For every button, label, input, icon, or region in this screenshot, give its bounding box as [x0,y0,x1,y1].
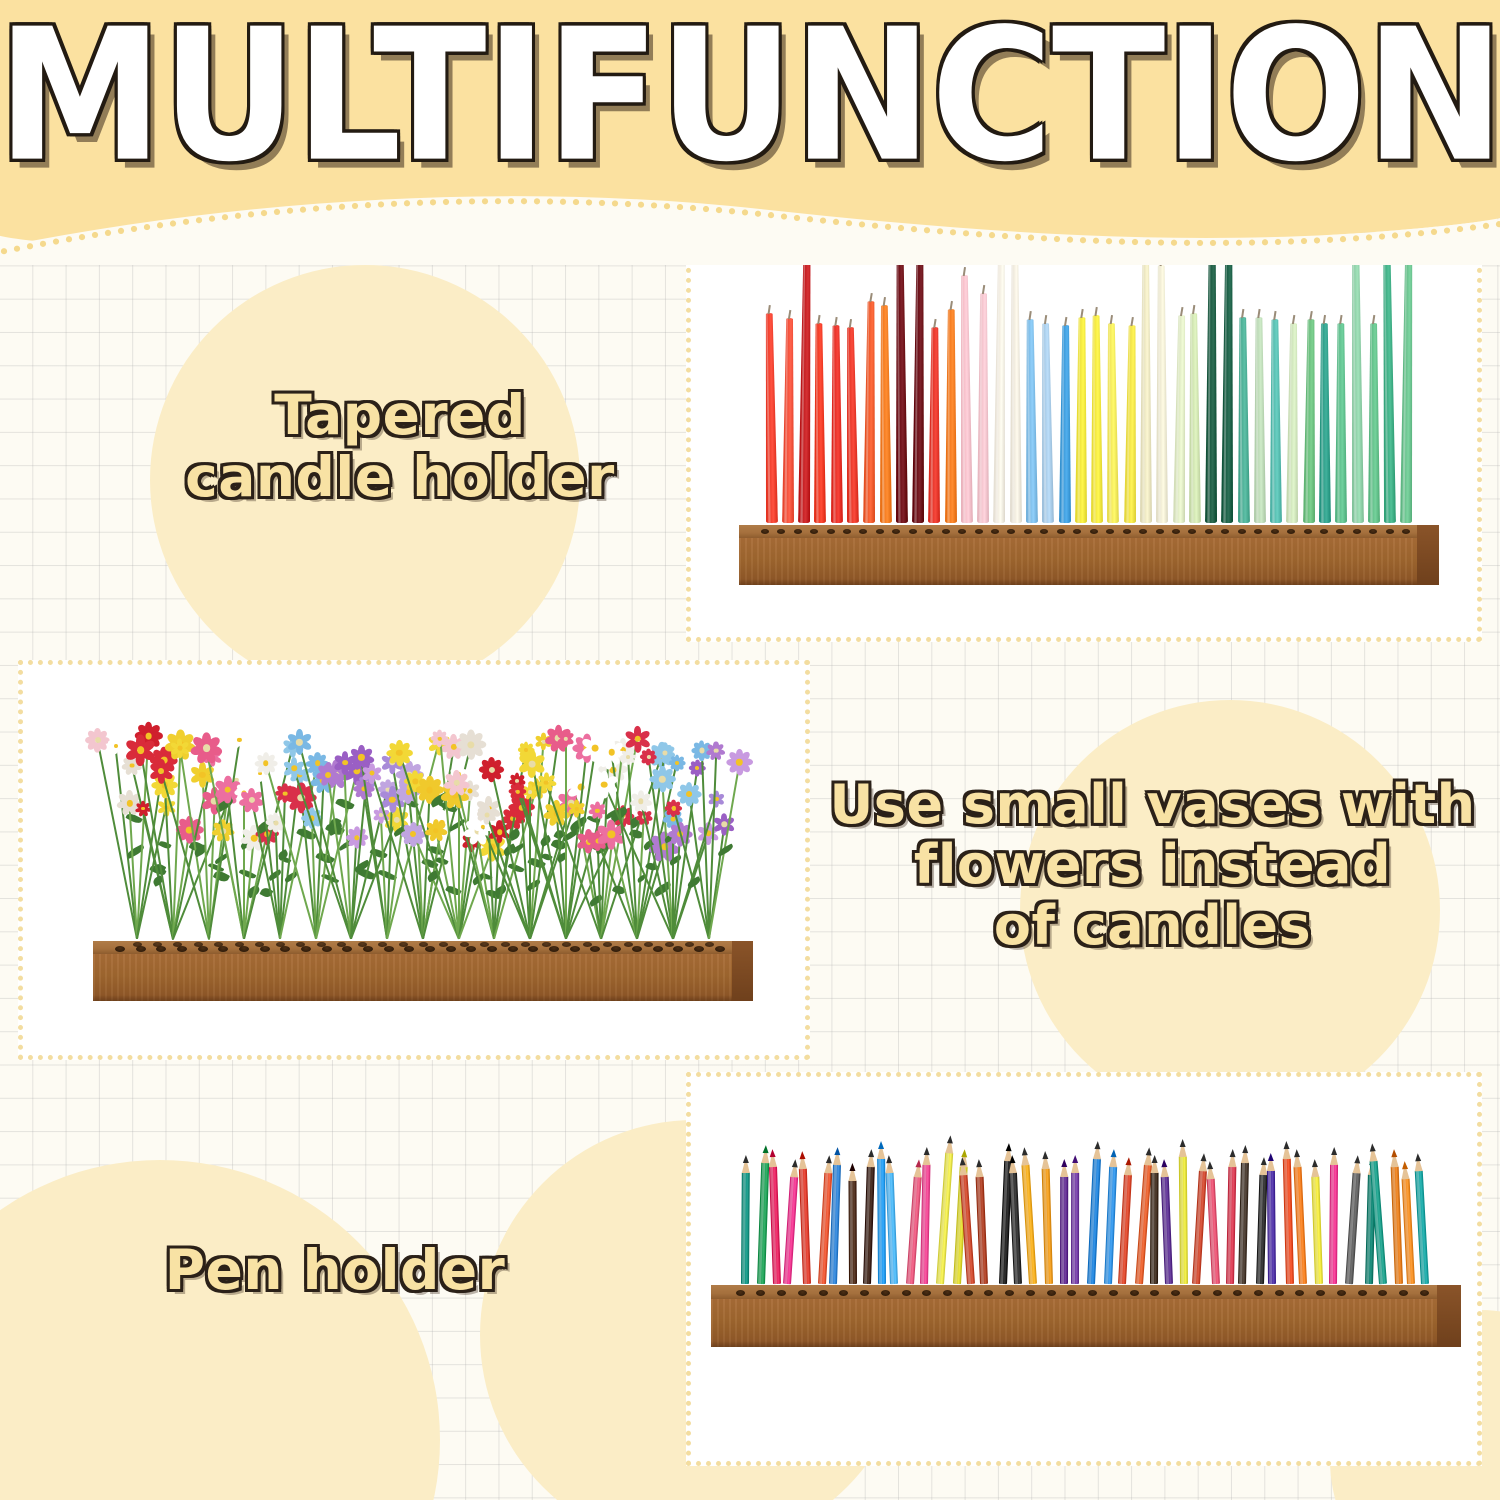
candle-body [1106,323,1120,523]
colored-pencil [1104,1166,1117,1284]
base-hole [798,1290,807,1296]
pencil-lead-tip [792,1159,799,1167]
candle-body [1286,323,1300,523]
pencil-lead-tip [1022,1147,1028,1155]
colored-pencil [757,1162,769,1284]
colored-pencil [848,1180,857,1284]
pencil-barrel [1206,1178,1219,1284]
pencil-barrel [976,1176,988,1284]
base-hole [1171,1290,1180,1296]
candle-body [1221,253,1235,523]
base-hole [843,529,851,534]
pencil-barrel [1118,1174,1132,1284]
candle-body [1253,317,1266,523]
pencil-barrel [1022,1164,1038,1284]
base-hole [425,946,435,952]
candle-wick [1095,307,1098,316]
candle-wick [1130,317,1133,326]
pencil-lead-tip [1061,1159,1067,1167]
base-hole [881,1290,890,1296]
tapered-candle [1155,265,1168,523]
candle-body [993,255,1007,523]
colored-pencil [1009,1172,1022,1284]
wood-end-cap [1437,1285,1461,1347]
pencil-barrel [1238,1162,1249,1284]
base-hole [909,529,917,534]
base-hole [624,942,633,947]
pencil-lead-tip [1415,1153,1421,1161]
base-hole [115,946,125,952]
colored-pencil [1226,1166,1236,1284]
wood-end-cap [1417,525,1439,585]
candle-wick [1274,311,1277,320]
caption-line: Tapered [130,385,670,447]
tapered-candle [1335,323,1347,523]
tapered-candle [1367,323,1379,523]
base-hole [1238,529,1246,534]
flower-bloom [679,784,699,804]
base-hole [1420,1290,1429,1296]
base-hole [1320,529,1328,534]
flower-holder-photo [23,665,805,1055]
candle-wick [1110,315,1113,324]
base-hole [1057,529,1065,534]
candle-body [1009,261,1022,523]
base-hole [1254,1290,1263,1296]
tapered-candle [1381,253,1396,523]
colored-pencil [936,1152,953,1284]
tapered-candle [844,327,859,523]
caption-line: Pen holder [100,1240,570,1302]
flower-photo-panel [18,660,810,1060]
base-hole [1304,529,1312,534]
candle-wick [1192,305,1195,314]
candle-holder-photo [691,253,1477,637]
colored-pencil [1402,1178,1415,1284]
pencil-lead-tip [1294,1149,1300,1157]
base-hole [685,942,694,947]
base-hole [1386,529,1394,534]
tapered-candle [830,325,843,523]
candle-wick [934,319,937,328]
colored-pencil [1329,1164,1338,1284]
pencil-lead-tip [1260,1157,1266,1165]
colored-pencil [1345,1172,1361,1284]
pencil-lead-tip [886,1155,892,1163]
tapered-candle [1187,313,1200,523]
base-hole [194,942,203,947]
candle-photo-panel [686,248,1482,642]
base-hole [1090,529,1098,534]
pencil-barrel [1178,1156,1187,1284]
colored-pencil [1071,1172,1079,1284]
base-hole [943,1290,952,1296]
base-hole [942,529,950,534]
pencil-lead-tip [1230,1149,1236,1157]
base-hole [1337,1290,1346,1296]
candle-body [1140,261,1152,523]
base-hole [419,942,428,947]
base-hole [1213,1290,1222,1296]
caption-line: Use small vases with [805,775,1500,835]
colored-pencil [1294,1166,1308,1284]
pencil-lead-tip [1126,1157,1132,1165]
base-hole [317,942,326,947]
tapered-candle [782,318,796,523]
base-hole [819,1290,828,1296]
colored-pencil [1238,1162,1249,1284]
base-hole [1192,1290,1201,1296]
base-hole [501,942,510,947]
base-hole [1156,529,1164,534]
pencil-barrel [920,1164,930,1284]
base-hole [399,942,408,947]
base-hole [1024,529,1032,534]
colored-pencil [1160,1176,1172,1284]
pencil-barrel [1071,1172,1079,1284]
base-hole [860,1290,869,1296]
pencil-lead-tip [1094,1141,1100,1149]
tapered-candle [1286,323,1300,523]
candle-wick [1180,307,1183,316]
candle-body [1367,323,1379,523]
wood-front-face [93,954,753,1001]
colored-pencil [1178,1156,1187,1284]
pencil-barrel [1415,1170,1429,1284]
colored-pencil [1150,1172,1159,1284]
tapered-candle [763,313,778,523]
base-hole [570,946,580,952]
pencil-barrel [1267,1170,1276,1284]
colored-pencil [1042,1168,1053,1284]
candle-body [1024,319,1038,523]
base-hole [358,942,367,947]
candle-wick [1340,315,1343,324]
pencil-barrel [757,1162,769,1284]
base-hole [1353,529,1361,534]
pencil-lead-tip [1152,1155,1158,1163]
pencil-barrel [1311,1176,1323,1284]
caption-line: of candles [805,896,1500,956]
pencil-lead-tip [1201,1153,1207,1161]
candle-body [1059,325,1072,523]
tapered-candle [1253,317,1266,523]
pencil-lead-tip [1009,1155,1015,1163]
pencil-barrel [1042,1168,1053,1284]
base-hole [632,946,642,952]
base-hole [715,946,725,952]
pencil-lead-tip [1005,1143,1011,1151]
pencil-barrel [885,1172,897,1284]
colored-pencil [885,1172,897,1284]
candle-body [1173,315,1188,523]
base-hole [446,946,456,952]
candle-wick [963,267,966,276]
candle-wick [949,301,952,310]
tapered-candle [958,275,973,523]
base-hole [644,942,653,947]
colored-pencil [1206,1178,1219,1284]
candle-body [1075,317,1088,523]
base-hole [1026,1290,1035,1296]
base-hole [975,529,983,534]
colored-pencil [1311,1176,1323,1284]
candle-wick [834,317,837,326]
pencil-lead-tip [1179,1139,1185,1147]
page-title: MULTIFUNCTION [0,6,1500,186]
base-hole [827,529,835,534]
candle-body [1040,323,1054,523]
pencil-lead-tip [742,1155,748,1163]
pencil-lead-tip [868,1149,874,1157]
candle-wick [882,297,885,306]
pencil-barrel [1150,1172,1159,1284]
tapered-candle [1024,319,1038,523]
tapered-candle [1318,323,1331,523]
tapered-candle [1075,317,1088,523]
base-hole [1047,1290,1056,1296]
wood-front-face [711,1299,1461,1347]
pencil-lead-tip [799,1151,805,1159]
candle-wick [1323,315,1326,324]
colored-pencil [1267,1170,1276,1284]
tapered-candle [1173,315,1188,523]
pencil-barrel [1329,1164,1338,1284]
candle-wick [1257,309,1260,318]
tapered-candle [1040,323,1054,523]
candle-wick [849,319,852,328]
pencil-barrel [1060,1176,1068,1284]
flower-center [686,791,692,797]
candle-body [830,325,843,523]
tapered-candle [1106,323,1120,523]
pencil-lead-tip [916,1159,923,1167]
pencil-barrel [1283,1158,1294,1284]
pencil-barrel [1226,1166,1236,1284]
candle-body [1155,265,1168,523]
pencil-lead-tip [976,1159,982,1167]
colored-pencil [1192,1170,1207,1284]
tapered-candle [1349,253,1363,523]
pencil-barrel [1104,1166,1117,1284]
pencil-lead-tip [1402,1161,1408,1169]
candle-body [1236,317,1249,523]
pencil-barrel [1160,1176,1172,1284]
candle-body [1090,315,1103,523]
base-hole [460,942,469,947]
candle-body [1124,325,1138,523]
base-hole [876,529,884,534]
candle-body [1269,319,1282,523]
pencil-lead-tip [825,1155,831,1163]
candle-body [1318,323,1331,523]
colored-pencil [976,1176,988,1284]
base-hole [542,942,551,947]
caption-line: candle holder [130,447,670,509]
candle-wick [1309,311,1312,320]
candle-wick [1029,311,1032,320]
base-hole [653,946,663,952]
pencil-barrel [1345,1172,1361,1284]
base-hole [508,946,518,952]
base-hole [322,946,332,952]
pencil-barrel [1294,1166,1308,1284]
tapered-candle [1059,325,1072,523]
colored-pencil [863,1166,875,1284]
candle-wick [788,310,791,319]
pencil-lead-tip [1110,1149,1116,1157]
pencil-barrel [863,1166,875,1284]
pencil-lead-tip [923,1147,929,1155]
pencil-lead-tip [769,1149,775,1157]
tapered-candle [863,301,877,523]
candle-wick [1241,309,1244,318]
candle-wick [1080,309,1083,318]
base-hole [260,946,270,952]
tapered-candle [977,293,990,523]
tapered-candle [1009,261,1022,523]
candle-body [1335,323,1347,523]
colored-pencil [1256,1174,1267,1284]
pencil-barrel [783,1176,798,1284]
colored-pencil [1415,1170,1429,1284]
pencil-lead-tip [1391,1149,1397,1157]
base-hole [487,946,497,952]
colored-pencil [1118,1174,1132,1284]
tapered-candle [1269,319,1282,523]
colored-pencil [769,1166,781,1284]
tapered-candle [894,253,908,523]
tapered-candle [1236,317,1249,523]
base-hole [761,529,769,534]
tapered-candle [1090,315,1103,523]
candle-wick [1372,315,1375,324]
pencil-lead-tip [1370,1143,1377,1151]
base-hole [1123,529,1131,534]
pencil-barrel [769,1166,781,1284]
base-hole [384,946,394,952]
pencil-lead-tip [834,1147,840,1155]
pencil-barrel [1087,1158,1101,1284]
tapered-candle [928,327,941,523]
pencil-lead-tip [878,1141,884,1149]
base-hole [1172,529,1180,534]
caption-candle-holder: Tapered candle holder [130,385,670,508]
candle-body [863,301,877,523]
pencil-lead-tip [1072,1155,1078,1163]
base-hole [665,942,674,947]
base-hole [1358,1290,1367,1296]
candle-body [763,313,778,523]
base-hole [276,942,285,947]
candle-body [878,305,892,523]
flower-leaf [716,843,734,857]
wooden-base [739,525,1439,585]
pencil-lead-tip [947,1135,954,1143]
candle-body [813,323,826,523]
pencil-lead-tip [1331,1147,1337,1155]
candle-body [894,253,908,523]
pencil-lead-tip [1284,1141,1290,1149]
base-hole [1130,1290,1139,1296]
pencil-barrel [1256,1174,1267,1284]
candle-wick [1044,315,1047,324]
pencil-barrel [1192,1170,1207,1284]
tapered-candle [1303,319,1317,523]
tapered-candle [945,309,957,523]
tapered-candle [1140,261,1152,523]
pencil-barrel [799,1168,811,1284]
caption-pen-holder: Pen holder [100,1240,570,1302]
pen-holder-photo [691,1077,1477,1461]
candle-body [1205,253,1218,523]
candle-body [1381,253,1396,523]
pencil-barrel [741,1172,750,1284]
base-hole [235,942,244,947]
candle-body [1303,319,1317,523]
base-hole [133,942,142,947]
colored-pencil [741,1172,750,1284]
wooden-base [93,941,753,1001]
caption-flower-vases: Use small vases with flowers instead of … [805,775,1500,956]
pencil-lead-tip [1161,1159,1167,1167]
pencil-barrel [936,1152,953,1284]
candle-body [844,327,859,523]
pencil-barrel [1009,1172,1022,1284]
colored-pencil [1060,1176,1068,1284]
tapered-candle [1221,253,1235,523]
wooden-base [711,1285,1461,1347]
candle-wick [818,315,821,324]
base-hole [1271,529,1279,534]
base-hole [694,946,704,952]
tapered-candle [813,323,826,523]
pencil-lead-tip [1312,1159,1318,1167]
colored-pencil [799,1168,811,1284]
tapered-candle [912,253,926,523]
colored-pencil [920,1164,930,1284]
base-hole [153,942,162,947]
colored-pencil [1022,1164,1038,1284]
base-hole [794,529,802,534]
flower-center [714,748,719,753]
base-hole [777,1290,786,1296]
pencil-lead-tip [1268,1153,1274,1161]
page-title-text: MULTIFUNCTION [0,0,1500,202]
pencil-lead-tip [849,1163,855,1171]
base-hole [1205,529,1213,534]
candle-wick [982,285,985,294]
candle-body [798,253,813,523]
base-hole [1275,1290,1284,1296]
colored-pencil [1283,1158,1294,1284]
base-hole [301,946,311,952]
pencil-lead-tip [1354,1155,1361,1163]
pencil-barrel [848,1180,857,1284]
candle-body [977,293,990,523]
candle-wick [1064,317,1067,326]
flower-bloom [708,743,724,759]
tapered-candle [1124,325,1138,523]
wood-front-face [739,538,1439,585]
candle-body [782,318,796,523]
base-hole [902,1290,911,1296]
colored-pencil [783,1176,798,1284]
candle-wick [870,293,873,302]
candle-body [1400,253,1415,523]
tapered-candle [993,255,1007,523]
pencil-lead-tip [960,1157,967,1165]
